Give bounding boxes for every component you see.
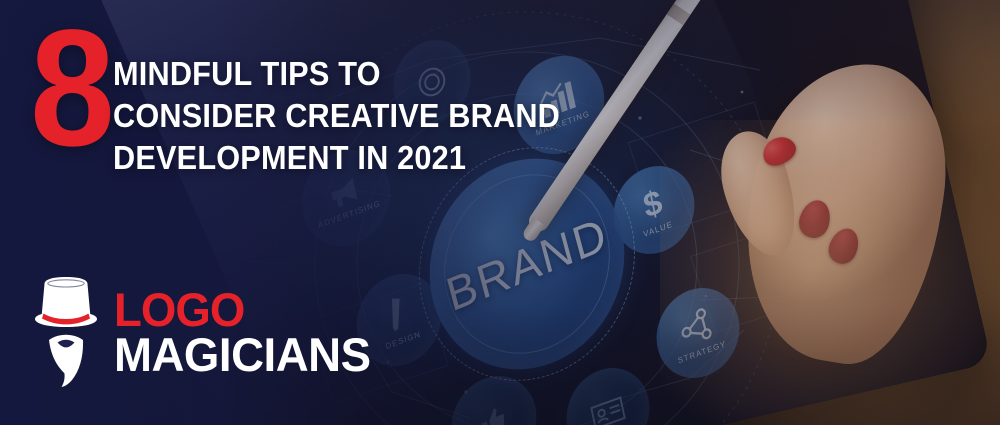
logo-magicians-logo[interactable]: LOGO MAGICIANS [30, 272, 378, 390]
banner-content: 8 MINDFUL TIPS TO CONSIDER CREATIVE BRAN… [0, 0, 1000, 425]
headline: MINDFUL TIPS TO CONSIDER CREATIVE BRAND … [113, 53, 533, 179]
logo-word-logo: LOGO [114, 288, 371, 331]
top-hat-and-beard-icon [30, 272, 102, 390]
blog-banner: MARKETING $ VALUE STRATEGY ADVERTISING D… [0, 0, 1000, 425]
logo-word-magicians: MAGICIANS [114, 332, 371, 378]
headline-line-2: CONSIDER CREATIVE BRAND [113, 95, 504, 137]
headline-line-3: DEVELOPMENT IN 2021 [113, 137, 504, 179]
headline-line-1: MINDFUL TIPS TO [113, 53, 504, 95]
tip-count-number: 8 [30, 18, 111, 161]
logo-wordmark: LOGO MAGICIANS [114, 288, 378, 377]
